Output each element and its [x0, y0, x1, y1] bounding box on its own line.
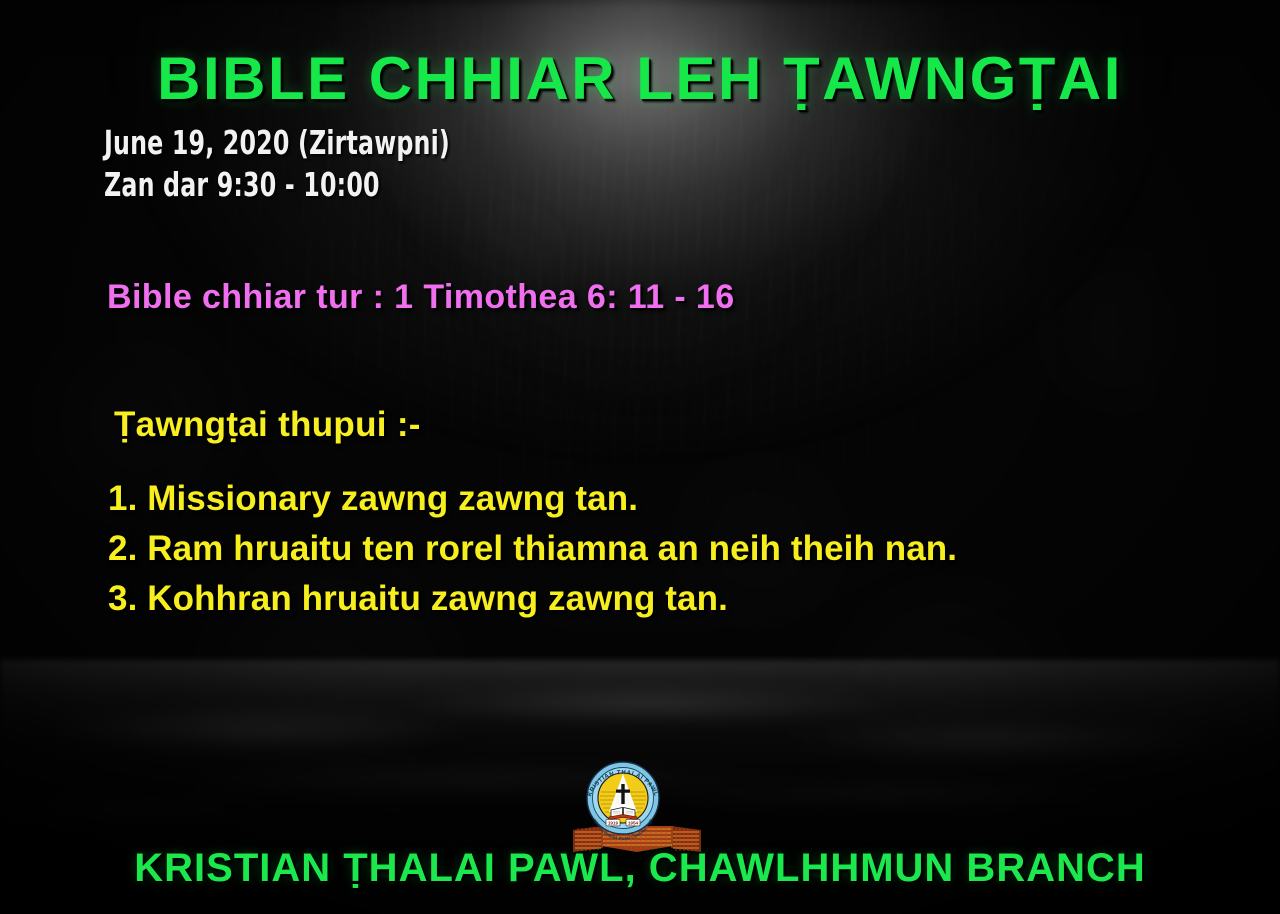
poster-title: BIBLE CHHIAR LEH ṬAWNGṬAI [0, 44, 1280, 113]
emblem-year-left: 1919 [608, 820, 619, 825]
schedule-block: June 19, 2020 (Zirtawpni) Zan dar 9:30 -… [104, 122, 450, 206]
prayer-topics-heading: Ṭawngṭai thupui :- [114, 405, 421, 445]
footer-branch-name: KRISTIAN ṬHALAI PAWL, CHAWLHHMUN BRANCH [0, 846, 1280, 891]
list-item: 3. Kohhran hruaitu zawng zawng tan. [108, 574, 957, 624]
ktp-logo: KRISTIAN THALAI PAWL KRISTA HNENA PUAN C… [567, 752, 707, 858]
list-item: 2. Ram hruaitu ten rorel thiamna an neih… [108, 524, 957, 574]
list-item: 1. Missionary zawng zawng tan. [108, 474, 957, 524]
poster-content: BIBLE CHHIAR LEH ṬAWNGṬAI June 19, 2020 … [0, 0, 1280, 914]
date-line: June 19, 2020 (Zirtawpni) [104, 122, 450, 164]
bible-reading-line: Bible chhiar tur : 1 Timothea 6: 11 - 16 [107, 278, 735, 317]
time-line: Zan dar 9:30 - 10:00 [104, 164, 450, 206]
prayer-topics-list: 1. Missionary zawng zawng tan. 2. Ram hr… [108, 474, 957, 624]
emblem-year-right: 1954 [628, 820, 639, 825]
poster-canvas: BIBLE CHHIAR LEH ṬAWNGṬAI June 19, 2020 … [0, 0, 1280, 914]
